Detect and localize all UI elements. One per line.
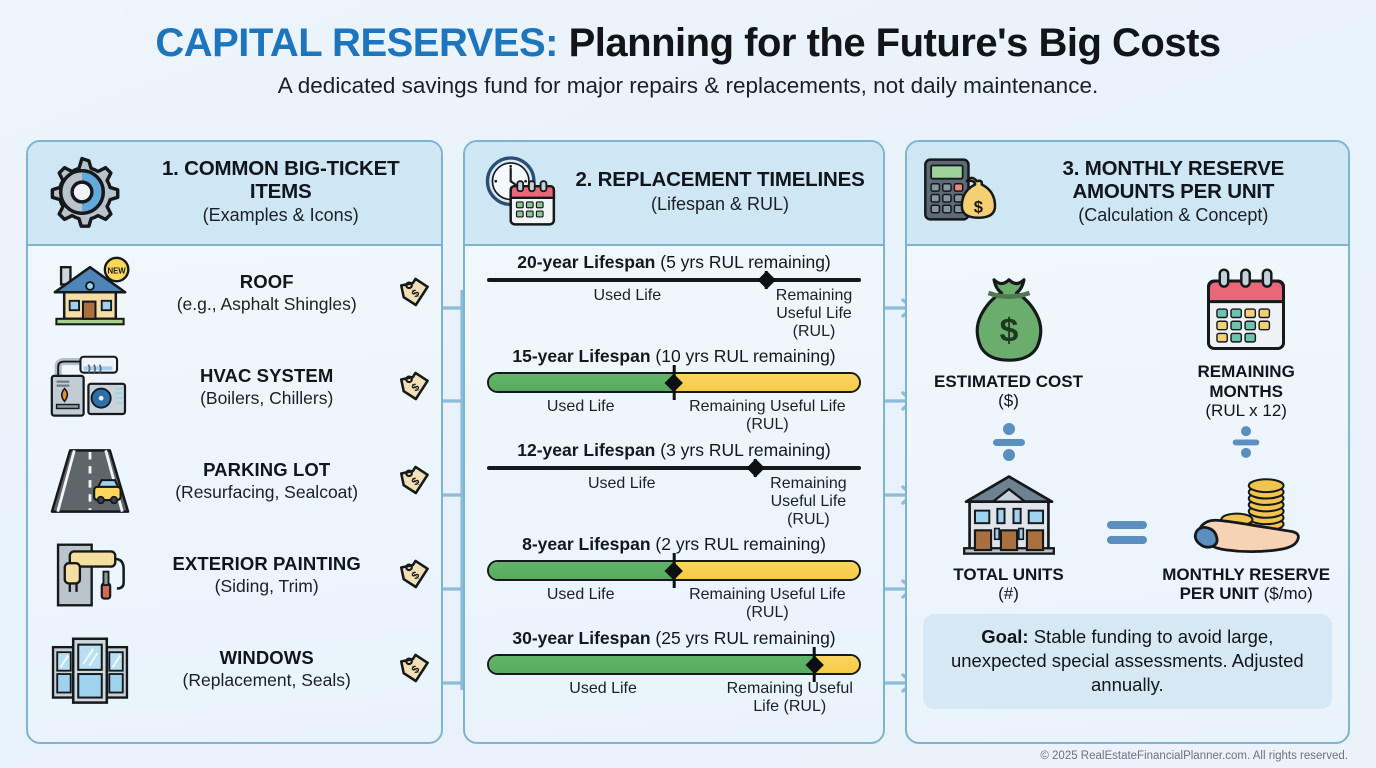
list-item[interactable]: HVAC SYSTEM (Boilers, Chillers) $	[28, 340, 441, 434]
rul-label: (5 yrs RUL remaining)	[660, 252, 831, 272]
column-3-body: $ ESTIMATED COST ($)	[907, 246, 1348, 744]
split-marker	[673, 365, 676, 400]
item-detail: (Replacement, Seals)	[144, 670, 389, 691]
calc-cell-remaining-months: REMAINING MONTHS (RUL x 12)	[1160, 260, 1332, 421]
timeline-bar[interactable]	[487, 372, 860, 393]
split-marker	[813, 647, 816, 682]
calculation-diagram: $ ESTIMATED COST ($)	[907, 246, 1348, 604]
timeline-bar-labels: Used Life Remaining Useful Life (RUL)	[487, 680, 860, 716]
timeline-bar-fill	[489, 656, 858, 673]
used-life-label: Used Life	[487, 475, 756, 529]
timeline-bar[interactable]	[487, 466, 860, 470]
used-life-segment	[489, 656, 814, 673]
rul-label: (2 yrs RUL remaining)	[655, 534, 826, 554]
footer-copyright: © 2025 RealEstateFinancialPlanner.com. A…	[1040, 750, 1348, 762]
timeline-row[interactable]: 30-year Lifespan (25 yrs RUL remaining)	[465, 622, 882, 716]
price-tag-icon: $	[395, 652, 435, 686]
calc-label-main: TOTAL UNITS	[953, 565, 1064, 584]
remaining-life-label: Remaining Useful Life (RUL)	[719, 680, 861, 716]
calc-label: ESTIMATED COST ($)	[923, 372, 1095, 411]
column-3-title: 3. MONTHLY RESERVE AMOUNTS PER UNIT	[1011, 158, 1336, 204]
svg-text:NEW: NEW	[107, 266, 126, 275]
price-tag-icon: $	[395, 558, 435, 592]
item-detail: (Siding, Trim)	[144, 576, 389, 597]
page-subtitle: A dedicated savings fund for major repai…	[0, 73, 1376, 99]
list-item[interactable]: NEW ROOF (e.g., Asphalt Shingles) $	[28, 246, 441, 340]
calc-cell-monthly-reserve: MONTHLY RESERVE PER UNIT ($/mo)	[1160, 463, 1332, 604]
divide-operator-right	[1160, 424, 1332, 460]
windows-icon	[42, 632, 138, 706]
calc-label-sub: (RUL x 12)	[1205, 401, 1287, 420]
timeline-row[interactable]: 20-year Lifespan (5 yrs RUL remaining)	[465, 246, 882, 340]
goal-callout: Goal: Stable funding to avoid large, une…	[923, 614, 1332, 709]
split-marker	[754, 459, 757, 477]
calculator-moneybag-icon: $	[919, 153, 1003, 231]
calc-cell-estimated-cost: $ ESTIMATED COST ($)	[923, 270, 1095, 411]
timeline-bar[interactable]	[487, 654, 860, 675]
calc-label: MONTHLY RESERVE PER UNIT ($/mo)	[1160, 565, 1332, 604]
calc-label: REMAINING MONTHS (RUL x 12)	[1160, 362, 1332, 421]
item-name: WINDOWS	[144, 647, 389, 669]
svg-text:$: $	[999, 312, 1018, 349]
used-life-segment	[489, 562, 674, 579]
timeline-caption: 30-year Lifespan (25 yrs RUL remaining)	[487, 628, 860, 649]
lifespan-label: 20-year Lifespan	[517, 252, 655, 272]
road-car-icon	[42, 445, 138, 517]
page-header: CAPITAL RESERVES: Planning for the Futur…	[0, 0, 1376, 99]
gear-icon	[40, 154, 124, 230]
price-tag-icon: $	[395, 464, 435, 498]
column-replacement-timelines: 2. REPLACEMENT TIMELINES (Lifespan & RUL…	[463, 140, 884, 744]
calc-label-main: ESTIMATED COST	[934, 372, 1083, 391]
column-3-subtitle: (Calculation & Concept)	[1011, 205, 1336, 226]
lifespan-label: 8-year Lifespan	[522, 534, 650, 554]
item-detail: (Boilers, Chillers)	[144, 388, 389, 409]
column-2-subtitle: (Lifespan & RUL)	[569, 194, 870, 215]
list-item[interactable]: EXTERIOR PAINTING (Siding, Trim) $	[28, 528, 441, 622]
used-life-label: Used Life	[487, 680, 718, 716]
remaining-life-label: Remaining Useful Life (RUL)	[756, 475, 861, 529]
svg-text:$: $	[973, 198, 982, 217]
item-detail: (Resurfacing, Sealcoat)	[144, 482, 389, 503]
used-life-label: Used Life	[487, 398, 674, 434]
timeline-bar-labels: Used Life Remaining Useful Life (RUL)	[487, 287, 860, 341]
columns-container: 1. COMMON BIG-TICKET ITEMS (Examples & I…	[0, 140, 1376, 744]
column-3-header: $ 3. MONTHLY RESERVE AMOUNTS PER UNIT (C…	[907, 142, 1348, 246]
remaining-life-label: Remaining Useful Life (RUL)	[674, 398, 861, 434]
hvac-icon	[42, 352, 138, 422]
timeline-bar-labels: Used Life Remaining Useful Life (RUL)	[487, 475, 860, 529]
timeline-bar-labels: Used Life Remaining Useful Life (RUL)	[487, 586, 860, 622]
page-title-accent: CAPITAL RESERVES:	[155, 21, 558, 65]
column-1-header-text: 1. COMMON BIG-TICKET ITEMS (Examples & I…	[132, 158, 429, 227]
used-life-label: Used Life	[487, 287, 767, 341]
column-2-header-text: 2. REPLACEMENT TIMELINES (Lifespan & RUL…	[569, 169, 870, 215]
remaining-life-label: Remaining Useful Life (RUL)	[767, 287, 860, 341]
list-item-text: HVAC SYSTEM (Boilers, Chillers)	[144, 365, 389, 409]
item-name: HVAC SYSTEM	[144, 365, 389, 387]
remaining-life-segment	[674, 374, 859, 391]
infographic-page: CAPITAL RESERVES: Planning for the Futur…	[0, 0, 1376, 768]
divide-operator-left	[923, 422, 1095, 462]
split-marker	[765, 271, 768, 289]
item-name: PARKING LOT	[144, 459, 389, 481]
split-marker	[673, 553, 676, 588]
timeline-caption: 20-year Lifespan (5 yrs RUL remaining)	[487, 252, 860, 273]
timeline-caption: 8-year Lifespan (2 yrs RUL remaining)	[487, 534, 860, 555]
goal-prefix: Goal:	[981, 626, 1028, 647]
calc-label: TOTAL UNITS (#)	[923, 565, 1095, 604]
price-tag-icon: $	[395, 276, 435, 310]
timeline-row[interactable]: 8-year Lifespan (2 yrs RUL remaining)	[465, 528, 882, 622]
list-item-text: WINDOWS (Replacement, Seals)	[144, 647, 389, 691]
timeline-caption: 12-year Lifespan (3 yrs RUL remaining)	[487, 440, 860, 461]
price-tag-icon: $	[395, 370, 435, 404]
clock-calendar-icon	[477, 153, 561, 231]
timeline-row[interactable]: 15-year Lifespan (10 yrs RUL remaining)	[465, 340, 882, 434]
item-detail: (e.g., Asphalt Shingles)	[144, 294, 389, 315]
list-item[interactable]: PARKING LOT (Resurfacing, Sealcoat) $	[28, 434, 441, 528]
rul-label: (25 yrs RUL remaining)	[655, 628, 835, 648]
lifespan-label: 30-year Lifespan	[512, 628, 650, 648]
page-title: CAPITAL RESERVES: Planning for the Futur…	[0, 22, 1376, 64]
timeline-row[interactable]: 12-year Lifespan (3 yrs RUL remaining)	[465, 434, 882, 528]
column-3-header-text: 3. MONTHLY RESERVE AMOUNTS PER UNIT (Cal…	[1011, 158, 1336, 227]
item-name: ROOF	[144, 271, 389, 293]
rul-label: (3 yrs RUL remaining)	[660, 440, 831, 460]
calendar-icon	[1160, 260, 1332, 356]
item-name: EXTERIOR PAINTING	[144, 553, 389, 575]
apartment-building-icon	[923, 463, 1095, 559]
rul-label: (10 yrs RUL remaining)	[655, 346, 835, 366]
used-life-segment	[489, 374, 674, 391]
used-life-label: Used Life	[487, 586, 674, 622]
lifespan-label: 15-year Lifespan	[512, 346, 650, 366]
paint-roller-icon	[42, 538, 138, 612]
column-1-header: 1. COMMON BIG-TICKET ITEMS (Examples & I…	[28, 142, 441, 246]
timeline-bar-labels: Used Life Remaining Useful Life (RUL)	[487, 398, 860, 434]
calc-label-sub: ($)	[998, 391, 1019, 410]
equals-operator	[1094, 520, 1160, 546]
remaining-life-label: Remaining Useful Life (RUL)	[674, 586, 861, 622]
column-1-subtitle: (Examples & Icons)	[132, 205, 429, 226]
timeline-caption: 15-year Lifespan (10 yrs RUL remaining)	[487, 346, 860, 367]
remaining-life-segment	[674, 562, 859, 579]
page-title-rest: Planning for the Future's Big Costs	[558, 21, 1221, 65]
calc-cell-total-units: TOTAL UNITS (#)	[923, 463, 1095, 604]
calc-label-sub: ($/mo)	[1264, 584, 1313, 603]
calc-label-sub: (#)	[998, 584, 1019, 603]
column-2-header: 2. REPLACEMENT TIMELINES (Lifespan & RUL…	[465, 142, 882, 246]
list-item-text: ROOF (e.g., Asphalt Shingles)	[144, 271, 389, 315]
calc-label-main: REMAINING MONTHS	[1198, 362, 1295, 401]
lifespan-label: 12-year Lifespan	[517, 440, 655, 460]
timeline-bar[interactable]	[487, 560, 860, 581]
column-1-title: 1. COMMON BIG-TICKET ITEMS	[132, 158, 429, 204]
column-2-title: 2. REPLACEMENT TIMELINES	[569, 169, 870, 192]
column-1-body: NEW ROOF (e.g., Asphalt Shingles) $	[28, 246, 441, 744]
money-bag-icon: $	[923, 270, 1095, 366]
list-item[interactable]: WINDOWS (Replacement, Seals) $	[28, 622, 441, 716]
column-monthly-reserve-amounts: $ 3. MONTHLY RESERVE AMOUNTS PER UNIT (C…	[905, 140, 1350, 744]
house-new-icon: NEW	[42, 256, 138, 330]
timeline-bar[interactable]	[487, 278, 860, 282]
column-2-body: 20-year Lifespan (5 yrs RUL remaining)	[465, 246, 882, 744]
hand-coins-icon	[1160, 463, 1332, 559]
column-common-big-ticket-items: 1. COMMON BIG-TICKET ITEMS (Examples & I…	[26, 140, 443, 744]
list-item-text: EXTERIOR PAINTING (Siding, Trim)	[144, 553, 389, 597]
list-item-text: PARKING LOT (Resurfacing, Sealcoat)	[144, 459, 389, 503]
